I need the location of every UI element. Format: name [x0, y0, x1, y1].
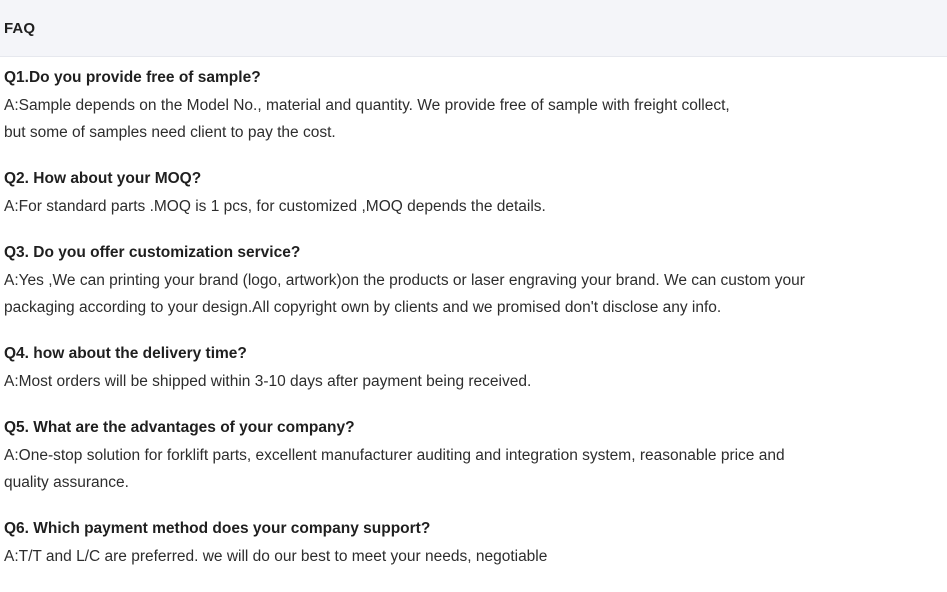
faq-answer-5: A:One-stop solution for forklift parts, …	[4, 442, 943, 496]
faq-question-5: Q5. What are the advantages of your comp…	[4, 416, 943, 439]
faq-item-5: Q5. What are the advantages of your comp…	[4, 395, 943, 496]
faq-answer-2: A:For standard parts .MOQ is 1 pcs, for …	[4, 193, 943, 220]
faq-answer-6: A:T/T and L/C are preferred. we will do …	[4, 543, 943, 570]
faq-answer-4: A:Most orders will be shipped within 3-1…	[4, 368, 943, 395]
faq-header: FAQ	[0, 0, 947, 57]
faq-item-4: Q4. how about the delivery time? A:Most …	[4, 321, 943, 395]
faq-list: Q1.Do you provide free of sample? A:Samp…	[0, 57, 947, 570]
faq-question-2: Q2. How about your MOQ?	[4, 167, 943, 190]
faq-question-6: Q6. Which payment method does your compa…	[4, 517, 943, 540]
faq-question-4: Q4. how about the delivery time?	[4, 342, 943, 365]
faq-panel: FAQ Q1.Do you provide free of sample? A:…	[0, 0, 947, 592]
faq-item-3: Q3. Do you offer customization service? …	[4, 220, 943, 321]
faq-answer-3: A:Yes ,We can printing your brand (logo,…	[4, 267, 943, 321]
faq-question-3: Q3. Do you offer customization service?	[4, 241, 943, 264]
faq-section-title: FAQ	[4, 21, 35, 36]
faq-question-1: Q1.Do you provide free of sample?	[4, 66, 943, 89]
faq-item-6: Q6. Which payment method does your compa…	[4, 496, 943, 570]
faq-item-2: Q2. How about your MOQ? A:For standard p…	[4, 146, 943, 220]
faq-item-1: Q1.Do you provide free of sample? A:Samp…	[4, 57, 943, 146]
faq-answer-1: A:Sample depends on the Model No., mater…	[4, 92, 943, 146]
